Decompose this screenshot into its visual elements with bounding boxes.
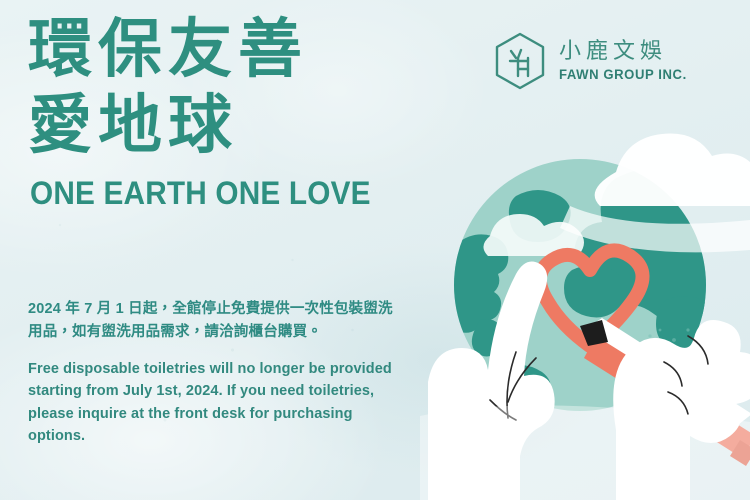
brand-logo: 小鹿文娛 FAWN GROUP INC. bbox=[492, 31, 691, 91]
body-copy-block: 2024 年 7 月 1 日起，全館停止免費提供一次性包裝盥洗用品，如有盥洗用品… bbox=[28, 298, 400, 448]
foreground-haze bbox=[420, 405, 750, 500]
hexagon-fawn-icon bbox=[492, 31, 548, 91]
notice-paragraph-cn: 2024 年 7 月 1 日起，全館停止免費提供一次性包裝盥洗用品，如有盥洗用品… bbox=[28, 298, 400, 345]
headline-block: 環保友善 愛地球 ONE EARTH ONE LOVE bbox=[28, 14, 458, 212]
brand-name-en: FAWN GROUP INC. bbox=[559, 68, 687, 82]
brand-name-cn: 小鹿文娛 bbox=[559, 40, 691, 62]
headline-english: ONE EARTH ONE LOVE bbox=[30, 175, 428, 212]
headline-cn-line1: 環保友善 bbox=[28, 14, 458, 86]
brand-logo-text: 小鹿文娛 FAWN GROUP INC. bbox=[559, 40, 691, 82]
headline-cn-line2: 愛地球 bbox=[28, 90, 458, 162]
notice-paragraph-en: Free disposable toiletries will no longe… bbox=[28, 358, 400, 448]
poster-canvas: 小鹿文娛 FAWN GROUP INC. 環保友善 愛地球 ONE EARTH … bbox=[0, 0, 750, 500]
